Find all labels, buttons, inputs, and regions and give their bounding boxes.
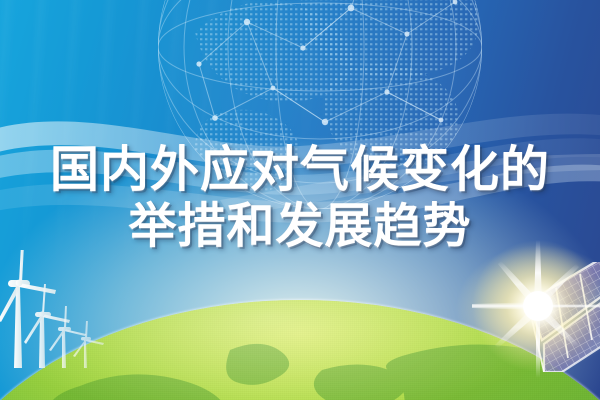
wave-ribbon-decoration bbox=[0, 96, 600, 246]
title-line-2: 举措和发展趋势 bbox=[0, 198, 600, 255]
network-globe-icon bbox=[155, 0, 485, 212]
globe-texture bbox=[0, 300, 600, 400]
banner-title: 国内外应对气候变化的 举措和发展趋势 bbox=[0, 141, 600, 255]
climate-banner: 国内外应对气候变化的 举措和发展趋势 bbox=[0, 0, 600, 400]
green-earth-icon bbox=[0, 300, 600, 400]
title-line-1: 国内外应对气候变化的 bbox=[0, 141, 600, 198]
